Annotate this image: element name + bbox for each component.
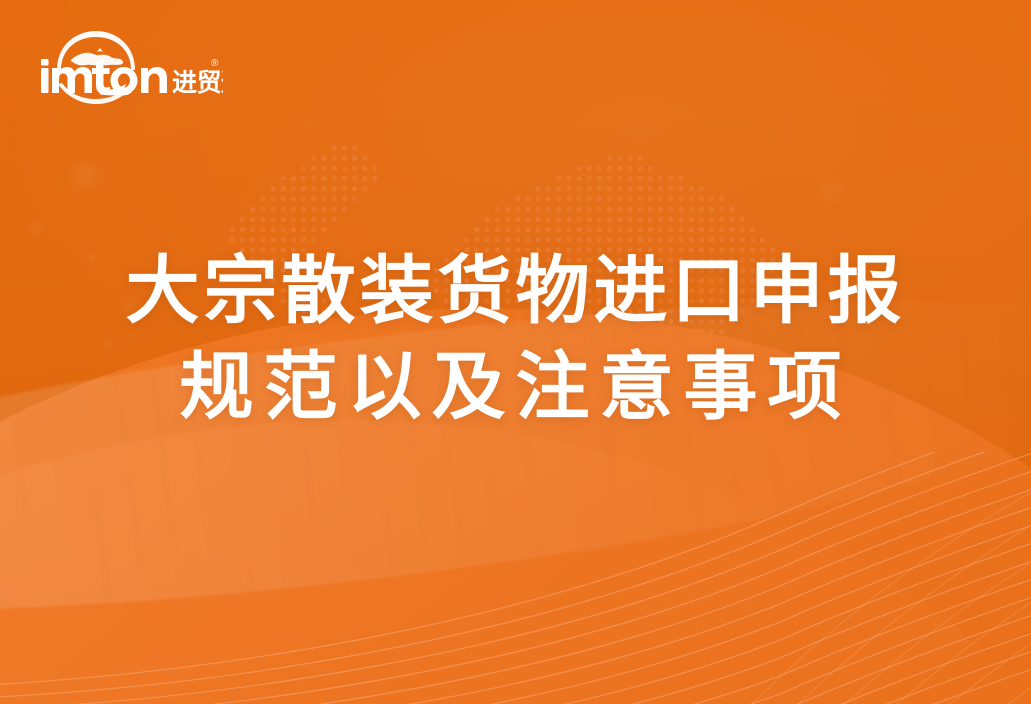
trademark-symbol-icon: ® <box>211 58 219 69</box>
brand-logo[interactable]: 进贸通 ® <box>38 24 223 106</box>
fan-lines-decoration <box>0 452 1031 704</box>
poster-canvas: 进贸通 ® 大宗散装货物进口申报 规范以及注意事项 <box>0 0 1031 704</box>
page-title: 大宗散装货物进口申报 规范以及注意事项 <box>0 243 1031 435</box>
title-line-1: 大宗散装货物进口申报 <box>0 243 1031 339</box>
title-line-2: 规范以及注意事项 <box>0 339 1031 435</box>
logo-cn-name: 进贸通 <box>172 68 223 97</box>
